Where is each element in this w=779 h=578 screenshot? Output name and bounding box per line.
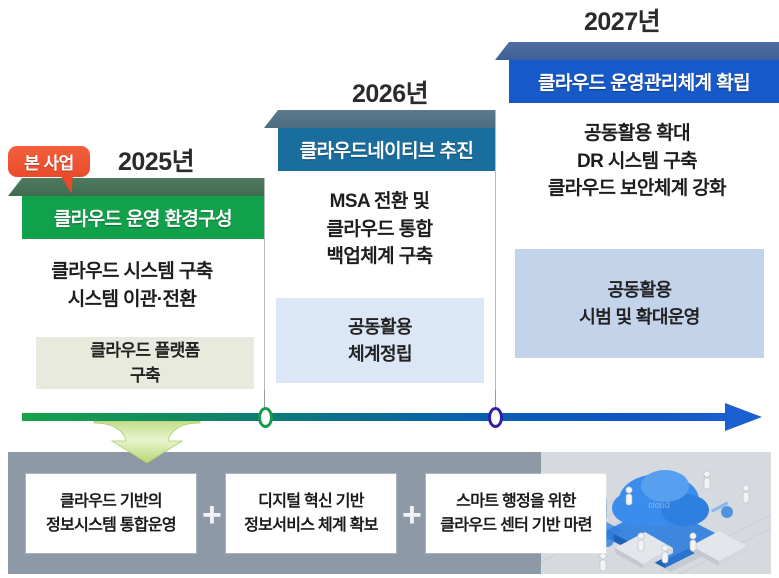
outcome-box-3: 스마트 행정을 위한 클라우드 센터 기반 마련 — [426, 474, 606, 553]
current-project-badge-label: 본 사업 — [24, 149, 74, 174]
outcome-box-1: 클라우드 기반의 정보시스템 통합운영 — [26, 474, 196, 553]
svg-text:cloud: cloud — [648, 500, 670, 510]
phase-body-line: 클라우드 통합 — [264, 216, 495, 244]
phase-subbox-line: 체계정립 — [348, 341, 412, 368]
phase-header-3d-slab-2025 — [8, 178, 264, 196]
outcome-panel: cloud — [8, 452, 771, 574]
phase-subbox-2025: 클라우드 플랫폼 구축 — [36, 337, 254, 389]
phase-column-2026: 클라우드네이티브 추진 MSA 전환 및 클라우드 통합 백업체계 구축 공동활… — [264, 110, 495, 410]
outcome-box-2: 디지털 혁신 기반 정보서비스 체계 확보 — [226, 474, 396, 553]
phase-body-2025: 클라우드 시스템 구축 시스템 이관·전환 — [0, 258, 264, 313]
current-project-badge: 본 사업 — [8, 146, 90, 177]
phase-body-2027: 공동활용 확대 DR 시스템 구축 클라우드 보안체계 강화 — [495, 120, 779, 203]
phase-body-line: MSA 전환 및 — [264, 188, 495, 216]
phase-body-line: 시스템 이관·전환 — [0, 286, 264, 314]
timeline-node-2027 — [488, 407, 503, 428]
phase-header-label-2026: 클라우드네이티브 추진 — [300, 136, 473, 163]
year-label-2026: 2026년 — [352, 74, 428, 110]
outcome-line: 정보시스템 통합운영 — [46, 514, 176, 537]
timeline-node-2026 — [258, 407, 273, 428]
phase-subbox-line: 공동활용 — [348, 314, 412, 341]
outcome-line: 스마트 행정을 위한 — [440, 490, 591, 513]
phase-header-bar-2025: 클라우드 운영 환경구성 — [22, 196, 264, 239]
outcome-line: 디지털 혁신 기반 — [244, 490, 378, 513]
outcome-separator-1: + — [202, 498, 222, 532]
phase-header-label-2027: 클라우드 운영관리체계 확립 — [538, 68, 750, 95]
year-label-2025: 2025년 — [118, 142, 194, 178]
timeline-arrowhead-icon — [725, 403, 762, 431]
phase-body-line: 클라우드 보안체계 강화 — [495, 175, 779, 203]
phase-subbox-line: 시범 및 확대운영 — [579, 304, 700, 331]
phase-subbox-2026: 공동활용 체계정립 — [276, 298, 484, 383]
phase-header-2025: 클라우드 운영 환경구성 — [8, 178, 264, 239]
phase-header-bar-2027: 클라우드 운영관리체계 확립 — [509, 60, 779, 103]
phase-column-2025: 클라우드 운영 환경구성 클라우드 시스템 구축 시스템 이관·전환 클라우드 … — [0, 178, 264, 410]
phase-body-line: 클라우드 시스템 구축 — [0, 258, 264, 286]
phase-header-3d-slab-2026 — [264, 110, 495, 128]
phase-body-2026: MSA 전환 및 클라우드 통합 백업체계 구축 — [264, 188, 495, 271]
phase-header-2026: 클라우드네이티브 추진 — [264, 110, 495, 171]
down-arrow-icon — [92, 421, 202, 463]
outcome-line: 정보서비스 체계 확보 — [244, 514, 378, 537]
outcome-separator-2: + — [402, 498, 422, 532]
timeline-bar — [22, 413, 733, 421]
phase-subbox-line: 공동활용 — [608, 277, 672, 304]
phase-body-line: DR 시스템 구축 — [495, 148, 779, 176]
phase-header-2027: 클라우드 운영관리체계 확립 — [495, 42, 779, 103]
phase-column-2027: 클라우드 운영관리체계 확립 공동활용 확대 DR 시스템 구축 클라우드 보안… — [495, 42, 779, 410]
roadmap-diagram: 2025년 2026년 2027년 클라우드 운영 환경구성 클라우드 시스템 … — [0, 0, 779, 578]
outcome-line: 클라우드 기반의 — [46, 490, 176, 513]
phase-subbox-line: 구축 — [130, 363, 160, 389]
phase-header-label-2025: 클라우드 운영 환경구성 — [54, 204, 232, 231]
phase-subbox-2027: 공동활용 시범 및 확대운영 — [515, 249, 764, 358]
outcome-line: 클라우드 센터 기반 마련 — [440, 514, 591, 537]
phase-body-line: 백업체계 구축 — [264, 243, 495, 271]
phase-header-3d-slab-2027 — [495, 42, 779, 60]
year-label-2027: 2027년 — [584, 2, 660, 38]
phase-subbox-line: 클라우드 플랫폼 — [90, 338, 199, 364]
phase-body-line: 공동활용 확대 — [495, 120, 779, 148]
phase-header-bar-2026: 클라우드네이티브 추진 — [278, 128, 495, 171]
